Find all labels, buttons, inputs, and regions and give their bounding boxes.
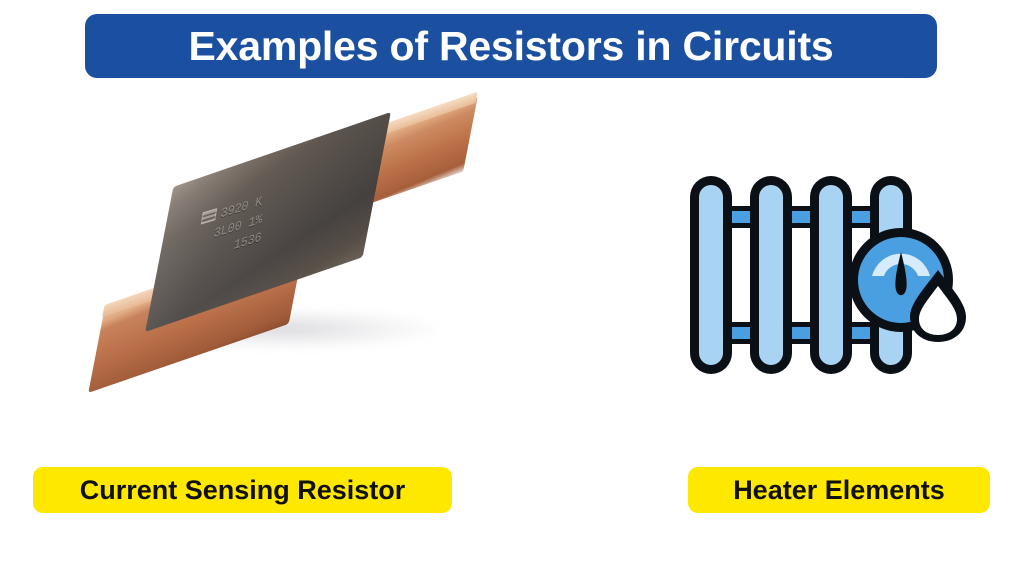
radiator-heater-svg [682,170,972,385]
caption-label: Current Sensing Resistor [80,477,406,504]
page-title: Examples of Resistors in Circuits [188,26,833,67]
radiator-fin-3 [819,185,843,365]
example-panel-heater-elements [512,100,1004,400]
page-title-banner: Examples of Resistors in Circuits [85,14,937,78]
caption-label: Heater Elements [733,477,945,504]
example-panel-current-sensing-resistor: 3920 K 3L00 1% 1536 [20,100,512,400]
current-sensing-resistor-photo: 3920 K 3L00 1% 1536 [85,140,485,370]
radiator-fin-2 [759,185,783,365]
caption-chip-heater-elements: Heater Elements [688,467,990,513]
radiator-fin-1 [699,185,723,365]
radiator-heater-icon [682,170,972,385]
caption-chip-current-sensing-resistor: Current Sensing Resistor [33,467,452,513]
